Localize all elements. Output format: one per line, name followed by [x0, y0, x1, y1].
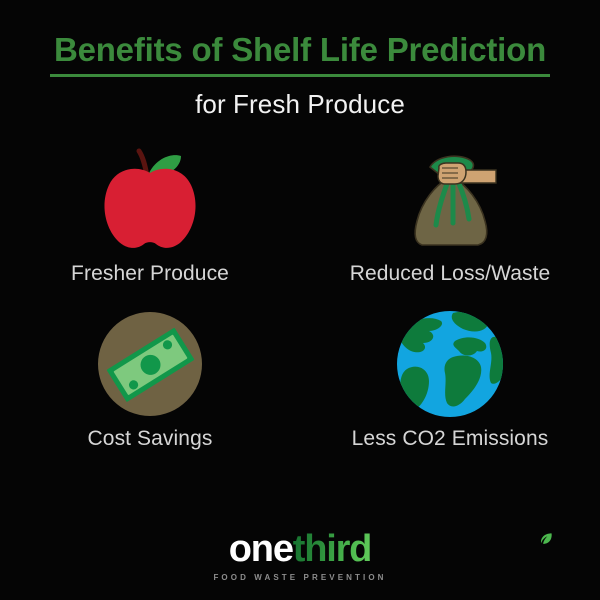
benefit-card-fresher-produce: Fresher Produce: [0, 140, 300, 305]
garbage-bag-icon: [396, 140, 504, 258]
benefit-card-cost-savings: Cost Savings: [0, 305, 300, 470]
benefit-card-less-co2-emissions: Less CO2 Emissions: [300, 305, 600, 470]
logo-tagline: FOOD WASTE PREVENTION: [0, 573, 600, 582]
benefit-label-reduced-loss-waste: Reduced Loss/Waste: [350, 262, 551, 286]
benefits-grid: Fresher Produce: [0, 140, 600, 470]
benefit-card-reduced-loss-waste: Reduced Loss/Waste: [300, 140, 600, 305]
globe-icon: [393, 305, 507, 423]
benefit-label-less-co2-emissions: Less CO2 Emissions: [352, 427, 549, 451]
apple-icon: [97, 140, 203, 258]
header: Benefits of Shelf Life Prediction for Fr…: [0, 0, 600, 120]
logo-word-third: third: [293, 528, 371, 570]
money-icon: [94, 305, 206, 423]
page-subtitle: for Fresh Produce: [0, 89, 600, 120]
benefit-label-cost-savings: Cost Savings: [88, 427, 213, 451]
logo-wordmark: onethird: [229, 530, 371, 568]
logo-word-one: one: [229, 528, 293, 570]
poster-canvas: Benefits of Shelf Life Prediction for Fr…: [0, 0, 600, 600]
benefit-label-fresher-produce: Fresher Produce: [71, 262, 229, 286]
page-title: Benefits of Shelf Life Prediction: [50, 32, 550, 77]
brand-logo: onethird FOOD WASTE PREVENTION: [0, 530, 600, 582]
leaf-icon: [539, 532, 553, 546]
